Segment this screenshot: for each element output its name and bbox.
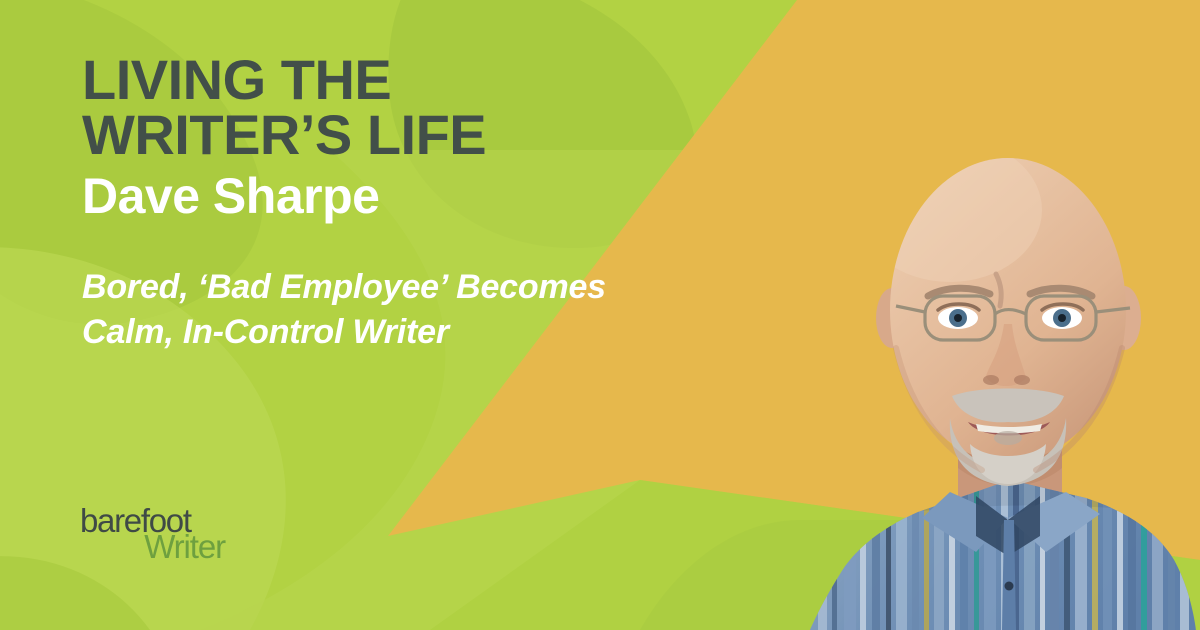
- portrait-head-highlight: [858, 138, 1042, 282]
- portrait-pupil-left: [954, 314, 962, 322]
- portrait-placket: [1002, 520, 1016, 630]
- page-title: LIVING THE WRITER’S LIFE: [82, 52, 782, 163]
- portrait-soul-patch: [994, 431, 1022, 445]
- portrait-pupil-right: [1058, 314, 1066, 322]
- article-subtitle: Bored, ‘Bad Employee’ Becomes Calm, In-C…: [82, 265, 762, 355]
- portrait-nostril-right: [1014, 375, 1030, 385]
- subtitle-line-1: Bored, ‘Bad Employee’ Becomes: [82, 265, 762, 310]
- portrait-photo: [800, 100, 1200, 630]
- headline-line-2: WRITER’S LIFE: [82, 107, 782, 162]
- headline-line-1: LIVING THE: [82, 52, 782, 107]
- portrait-nostril-left: [983, 375, 999, 385]
- banner: LIVING THE WRITER’S LIFE Dave Sharpe Bor…: [0, 0, 1200, 630]
- subtitle-line-2: Calm, In-Control Writer: [82, 310, 762, 355]
- text-block: LIVING THE WRITER’S LIFE Dave Sharpe Bor…: [82, 52, 782, 355]
- portrait-shirt-button: [1005, 582, 1014, 591]
- barefoot-writer-logo[interactable]: barefoot Writer: [80, 505, 225, 563]
- person-name: Dave Sharpe: [82, 169, 782, 223]
